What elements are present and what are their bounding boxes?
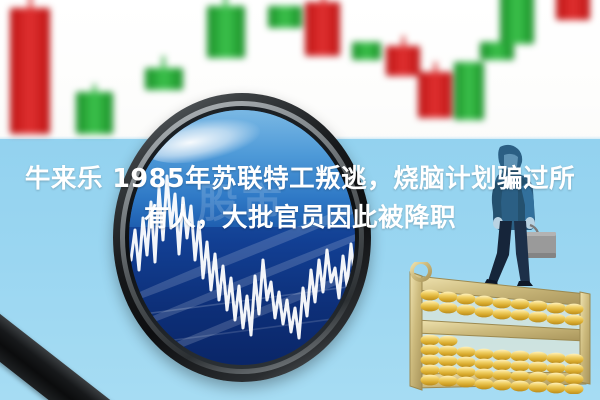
headline: 牛来乐 1985年苏联特工叛逃，烧脑计划骗过所 有人，大批官员因此被降职 <box>0 160 600 238</box>
headline-line-1: 牛来乐 1985年苏联特工叛逃，烧脑计划骗过所 <box>0 160 600 199</box>
headline-line-2: 有人，大批官员因此被降职 <box>0 199 600 238</box>
abacus <box>388 262 596 394</box>
thumbnail-canvas: 股市 牛来乐 1985年苏联特工叛逃，烧脑计划骗过所 有人，大批官员因此被降职 <box>0 0 600 400</box>
